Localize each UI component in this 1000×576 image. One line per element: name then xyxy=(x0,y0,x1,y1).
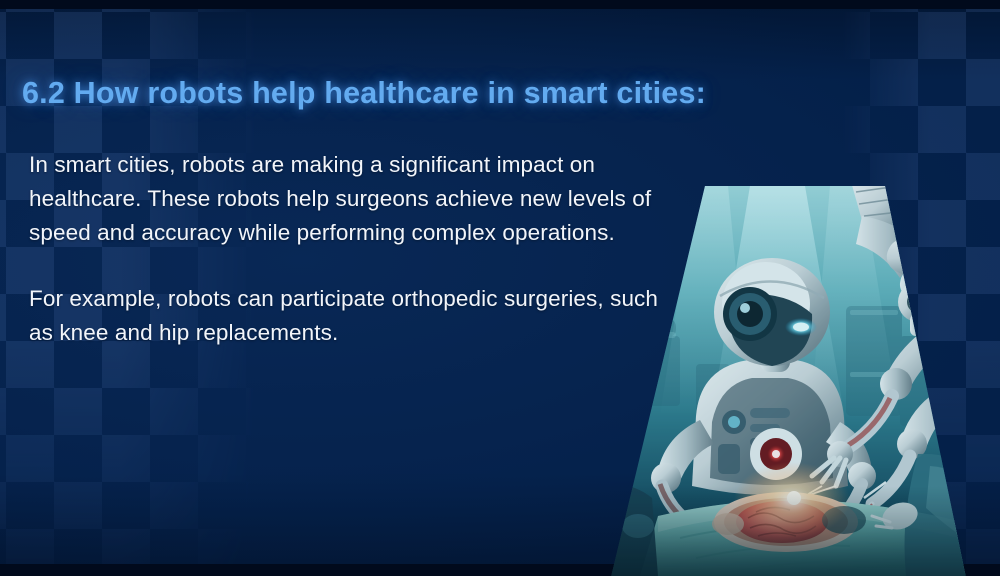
slide-canvas: 6.2 How robots help healthcare in smart … xyxy=(0,0,1000,576)
body-paragraph-2: For example, robots can participate orth… xyxy=(29,282,674,350)
body-paragraph-1: In smart cities, robots are making a sig… xyxy=(29,148,674,250)
slide-body: In smart cities, robots are making a sig… xyxy=(29,148,674,350)
top-border-band xyxy=(0,0,1000,9)
slide-title: 6.2 How robots help healthcare in smart … xyxy=(22,76,706,111)
